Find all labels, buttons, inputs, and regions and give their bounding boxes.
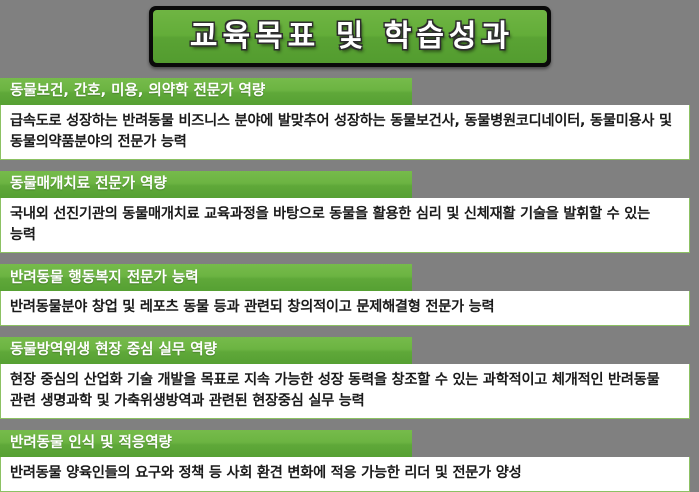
section-body-box: 현장 중심의 산업화 기술 개발을 목표로 지속 가능한 성장 동력을 창조할 … (0, 364, 690, 419)
section-body-box: 급속도로 성장하는 반려동물 비즈니스 분야에 발맞추어 성장하는 동물보건사,… (0, 105, 690, 160)
slide-title-banner: 교육목표 및 학습성과 (149, 6, 551, 67)
section-list: 동물보건, 간호, 미용, 의약학 전문가 역량 급속도로 성장하는 반려동물 … (0, 78, 699, 492)
section-item: 반려동물 인식 및 적응역량 반려동물 양육인들의 요구와 정책 등 사회 환견… (0, 430, 699, 492)
page-title: 교육목표 및 학습성과 (186, 22, 514, 52)
section-item: 동물방역위생 현장 중심 실무 역량 현장 중심의 산업화 기술 개발을 목표로… (0, 337, 699, 419)
section-body-text: 반려동물분야 창업 및 레포츠 동물 등과 관련되 창의적이고 문제해결형 전문… (10, 297, 680, 318)
section-header-label: 동물매개치료 전문가 역량 (10, 177, 167, 192)
section-header-bar: 동물보건, 간호, 미용, 의약학 전문가 역량 (0, 78, 412, 105)
section-header-label: 반려동물 인식 및 적응역량 (10, 436, 172, 451)
section-header-bar: 반려동물 인식 및 적응역량 (0, 430, 412, 457)
section-header-label: 동물보건, 간호, 미용, 의약학 전문가 역량 (10, 84, 265, 99)
section-header-bar: 반려동물 행동복지 전문가 능력 (0, 264, 412, 291)
section-header-label: 동물방역위생 현장 중심 실무 역량 (10, 343, 217, 358)
section-body-box: 반려동물분야 창업 및 레포츠 동물 등과 관련되 창의적이고 문제해결형 전문… (0, 291, 690, 326)
section-body-text: 현장 중심의 산업화 기술 개발을 목표로 지속 가능한 성장 동력을 창조할 … (10, 370, 680, 411)
section-item: 반려동물 행동복지 전문가 능력 반려동물분야 창업 및 레포츠 동물 등과 관… (0, 264, 699, 326)
section-body-text: 반려동물 양육인들의 요구와 정책 등 사회 환견 변화에 적응 가능한 리더 … (10, 463, 680, 484)
section-header-label: 반려동물 행동복지 전문가 능력 (10, 271, 199, 286)
section-item: 동물매개치료 전문가 역량 국내외 선진기관의 동물매개치료 교육과정을 바탕으… (0, 171, 699, 253)
section-body-text: 국내외 선진기관의 동물매개치료 교육과정을 바탕으로 동물을 활용한 심리 및… (10, 204, 680, 245)
section-header-bar: 동물방역위생 현장 중심 실무 역량 (0, 337, 412, 364)
section-header-bar: 동물매개치료 전문가 역량 (0, 171, 412, 198)
slide-root: 교육목표 및 학습성과 동물보건, 간호, 미용, 의약학 전문가 역량 급속도… (0, 0, 699, 480)
section-item: 동물보건, 간호, 미용, 의약학 전문가 역량 급속도로 성장하는 반려동물 … (0, 78, 699, 160)
section-body-box: 국내외 선진기관의 동물매개치료 교육과정을 바탕으로 동물을 활용한 심리 및… (0, 198, 690, 253)
section-body-text: 급속도로 성장하는 반려동물 비즈니스 분야에 발맞추어 성장하는 동물보건사,… (10, 111, 680, 152)
section-body-box: 반려동물 양육인들의 요구와 정책 등 사회 환견 변화에 적응 가능한 리더 … (0, 457, 690, 492)
slide-title-banner-fill: 교육목표 및 학습성과 (153, 10, 547, 63)
